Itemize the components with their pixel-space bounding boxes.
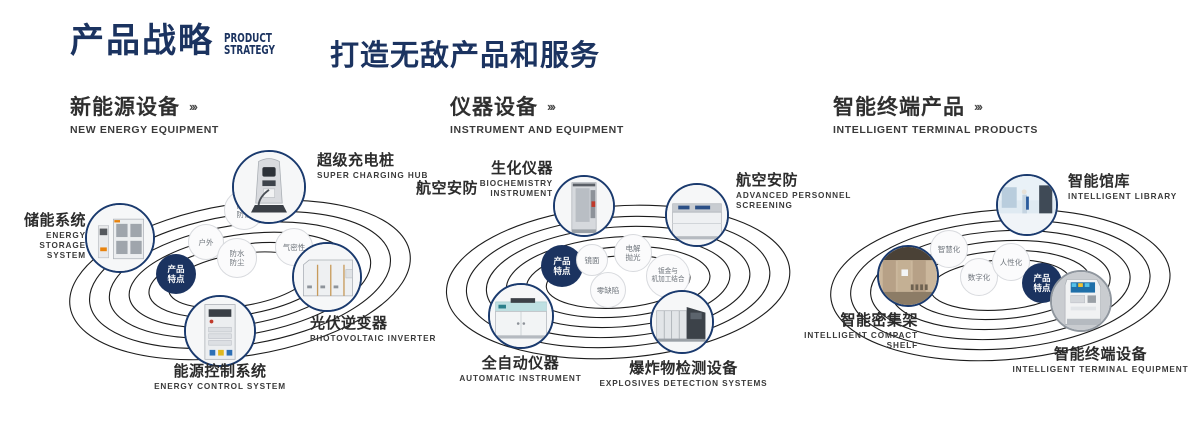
core-bubble: 产品 特点 [156,254,196,294]
core-bubble-line2: 特点 [167,274,184,284]
auto-instrument-icon [490,285,552,347]
node-label-en-line2: SHELF [887,341,918,350]
node-advanced-personnel-screening[interactable] [665,183,729,247]
node-label-en: AUTOMATIC INSTRUMENT [423,374,618,384]
feature-bubble: 零缺陷 [590,272,626,308]
section-title-cn: 智能终端产品 ››› [833,96,1038,119]
charging-pile-icon [234,152,304,222]
node-label-cn: 储能系统 [0,212,86,229]
screening-machine-icon [667,185,727,245]
label-explosives-detection: 爆炸物检测设备 EXPLOSIVES DETECTION SYSTEMS [591,360,776,389]
node-energy-storage[interactable] [85,203,155,273]
page-title-en: PRODUCT STRATEGY [224,32,275,56]
page-slogan: 打造无敌产品和服务 [330,32,600,74]
feature-line1: 钣金与 [658,268,678,276]
battery-cabinet-icon [87,205,153,271]
feature-line1: 防水 [230,249,245,258]
feature-bubble: 电解 抛光 [614,234,652,272]
node-explosives-detection[interactable] [650,290,714,354]
section-title-en: INTELLIGENT TERMINAL PRODUCTS [833,124,1038,136]
node-super-charging-hub[interactable] [232,150,306,224]
node-label-en: EXPLOSIVES DETECTION SYSTEMS [591,379,776,389]
feature-line1: 电解 [626,244,641,253]
page-title-en-line2: STRATEGY [224,44,275,56]
label-energy-control-system: 能源控制系统 ENERGY CONTROL SYSTEM [85,363,355,392]
node-intelligent-library[interactable] [996,174,1058,236]
node-label-en: INTELLIGENT TERMINAL EQUIPMENT [1003,365,1198,375]
feature-line2: 机加工结合 [652,276,685,284]
core-bubble-line1: 产品 [1033,273,1050,283]
compact-shelf-icon [879,247,937,305]
node-label-en-line2: INSTRUMENT [490,189,553,198]
node-intelligent-terminal-equipment[interactable] [1050,270,1112,332]
section-title-new-energy: 新能源设备 ››› NEW ENERGY EQUIPMENT [70,96,219,136]
page-title-cn: 产品战略 [70,24,214,58]
label-intelligent-compact-shelf: 智能密集架 INTELLIGENT COMPACT SHELF [728,312,918,351]
label-energy-storage: 储能系统 ENERGY STORAGE SYSTEM [0,212,86,261]
chevron-right-icon: ››› [547,100,554,114]
section-title-cn: 仪器设备 ››› [450,96,624,119]
node-label-en: ENERGY STORAGE SYSTEM [0,231,86,261]
node-label-cn: 爆炸物检测设备 [591,360,776,377]
node-label-en: INTELLIGENT COMPACT SHELF [728,331,918,351]
core-bubble-line2: 特点 [1033,283,1050,293]
library-room-icon [998,176,1056,234]
section-title-en: INSTRUMENT AND EQUIPMENT [450,124,624,136]
node-label-en-line2: SCREENING [736,201,793,210]
node-label-en-line1: INTELLIGENT COMPACT [804,331,918,340]
node-label-en: INTELLIGENT LIBRARY [1068,192,1200,202]
label-automatic-instrument: 全自动仪器 AUTOMATIC INSTRUMENT [423,355,618,384]
node-intelligent-compact-shelf[interactable] [877,245,939,307]
node-security-scanner[interactable] [553,175,615,237]
control-cabinet-icon [186,297,254,365]
section-title-instrument: 仪器设备 ››› INSTRUMENT AND EQUIPMENT [450,96,624,136]
header: 产品战略 PRODUCT STRATEGY [70,24,286,58]
section-title-intelligent-terminal: 智能终端产品 ››› INTELLIGENT TERMINAL PRODUCTS [833,96,1038,136]
core-bubble-line1: 产品 [553,256,570,266]
node-label-en: ENERGY CONTROL SYSTEM [85,382,355,392]
node-label-en-line1: BIOCHEMISTRY [480,179,553,188]
diagram-group-intelligent-terminal: 智慧化 数字化 人性化 产品 特点 智能馆库 INTELLIGENT LIBRA… [800,150,1200,410]
core-bubble-line2: 特点 [553,266,570,276]
label-intelligent-terminal-equipment: 智能终端设备 INTELLIGENT TERMINAL EQUIPMENT [1003,346,1198,375]
section-title-label: 新能源设备 [70,96,180,119]
node-automatic-instrument[interactable] [488,283,554,349]
chevron-right-icon: ››› [974,100,981,114]
security-scanner-icon [555,177,613,235]
explosives-detector-icon [652,292,712,352]
feature-line2: 防尘 [230,258,245,267]
label-biochemistry-instrument: 生化仪器 BIOCHEMISTRY INSTRUMENT [398,160,553,199]
node-label-cn: 能源控制系统 [85,363,355,380]
feature-line2: 抛光 [626,253,641,262]
node-photovoltaic-inverter[interactable] [292,242,362,312]
product-strategy-infographic: 产品战略 PRODUCT STRATEGY 打造无敌产品和服务 新能源设备 ››… [0,0,1200,422]
node-label-cn: 智能馆库 [1068,173,1200,190]
chevron-right-icon: ››› [189,100,196,114]
section-title-en: NEW ENERGY EQUIPMENT [70,124,219,136]
self-service-kiosk-icon [1052,272,1110,330]
inverter-cabinet-icon [294,244,360,310]
diagram-group-instrument: 产品 特点 镜面 电解 抛光 钣金与 机加工结合 零缺陷 航空安防 [418,150,818,410]
label-intelligent-library: 智能馆库 INTELLIGENT LIBRARY [1068,173,1200,202]
section-title-cn: 新能源设备 ››› [70,96,219,119]
node-label-cn: 智能终端设备 [1003,346,1198,363]
feature-bubble: 镜面 [576,244,608,276]
node-energy-control-system[interactable] [184,295,256,367]
node-label-cn: 生化仪器 [398,160,553,177]
section-title-label: 仪器设备 [450,96,538,119]
node-label-cn: 智能密集架 [728,312,918,329]
feature-bubble: 防水 防尘 [217,238,257,278]
core-bubble-line1: 产品 [167,264,184,274]
section-title-label: 智能终端产品 [833,96,965,119]
node-label-en: BIOCHEMISTRY INSTRUMENT [398,179,553,199]
node-label-cn: 全自动仪器 [423,355,618,372]
